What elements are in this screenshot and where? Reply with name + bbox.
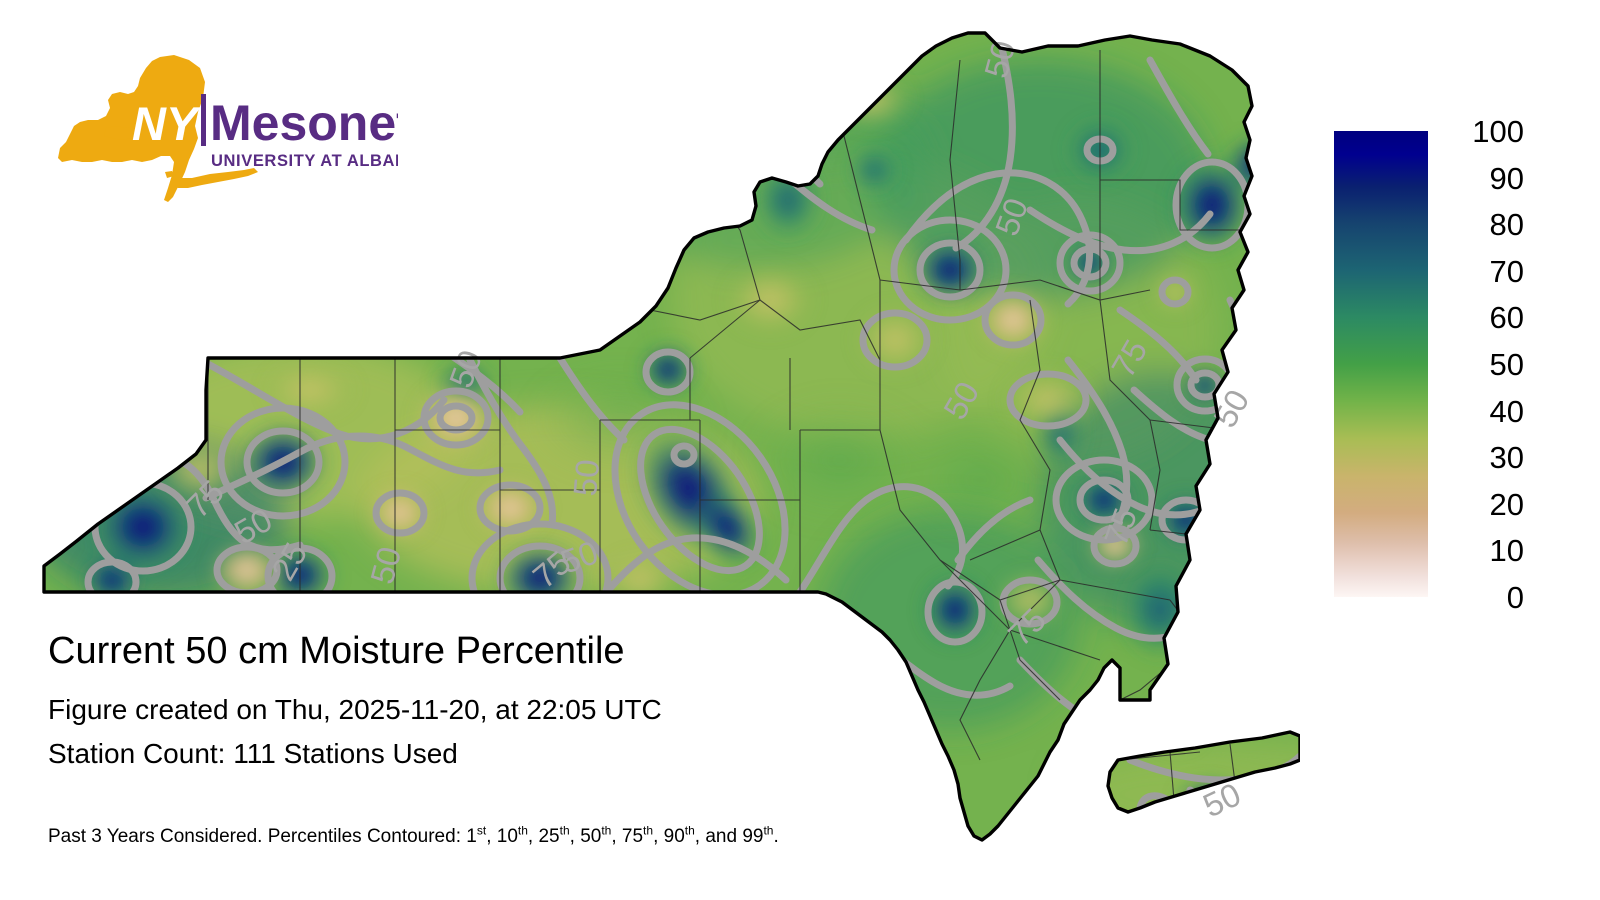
footnote-ordinal-25: th	[560, 824, 570, 838]
colorbar-tick-60: 60	[1438, 302, 1524, 333]
footnote-ordinal-75: th	[643, 824, 653, 838]
footnote-percentile-25: 25	[538, 826, 559, 847]
footnote-percentile-1: 1	[466, 826, 477, 847]
footnote-ordinal-99: th	[763, 824, 773, 838]
colorbar-gradient	[1334, 131, 1428, 597]
colorbar-tick-70: 70	[1438, 256, 1524, 287]
colorbar-tick-100: 100	[1438, 116, 1524, 147]
footnote-percentile-75: 75	[622, 826, 643, 847]
footnote-percentile-90: 90	[664, 826, 685, 847]
colorbar-tick-40: 40	[1438, 396, 1524, 427]
footnote-line: Past 3 Years Considered. Percentiles Con…	[48, 826, 779, 848]
footnote-ordinal-90: th	[685, 824, 695, 838]
colorbar-tick-90: 90	[1438, 163, 1524, 194]
colorbar-tick-labels: 1009080706050403020100	[1438, 109, 1578, 621]
colorbar-tick-30: 30	[1438, 442, 1524, 473]
colorbar-tick-50: 50	[1438, 349, 1524, 380]
footnote-percentile-10: 10	[497, 826, 518, 847]
colorbar: 1009080706050403020100	[1334, 131, 1584, 601]
contour-label-50d: 50	[566, 458, 606, 498]
footnote-percentile-99: 99	[742, 826, 763, 847]
colorbar-tick-10: 10	[1438, 535, 1524, 566]
page-title: Current 50 cm Moisture Percentile	[48, 628, 1048, 674]
footnote-percentile-50: 50	[580, 826, 601, 847]
colorbar-tick-0: 0	[1438, 582, 1524, 613]
footnote-ordinal-50: th	[601, 824, 611, 838]
colorbar-tick-80: 80	[1438, 209, 1524, 240]
figure-created-line: Figure created on Thu, 2025-11-20, at 22…	[48, 688, 1048, 732]
footnote-ordinal-1: st	[477, 824, 486, 838]
colorbar-tick-20: 20	[1438, 489, 1524, 520]
title-block: Current 50 cm Moisture Percentile Figure…	[48, 628, 1048, 776]
footnote-ordinal-10: th	[518, 824, 528, 838]
station-count-line: Station Count: 111 Stations Used	[48, 732, 1048, 776]
